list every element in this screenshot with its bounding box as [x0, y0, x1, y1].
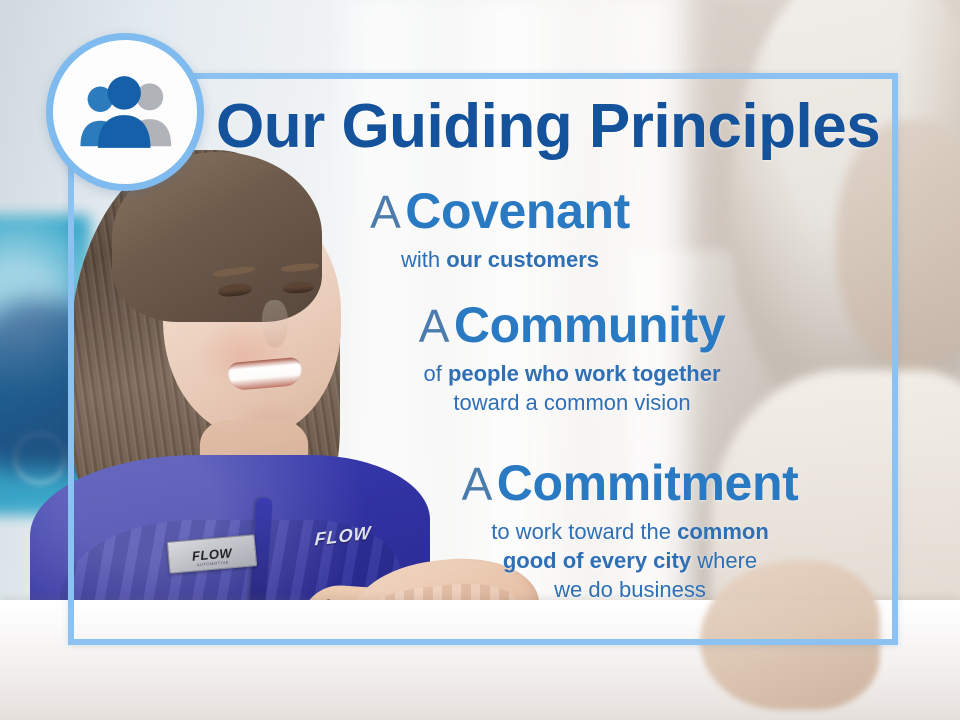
principle-word: Commitment: [497, 455, 799, 511]
principle-subtext: of people who work togethertoward a comm…: [352, 359, 792, 417]
principle-subtext: to work toward the commongood of every c…: [380, 517, 880, 604]
principle-subtext-line: we do business: [380, 575, 880, 604]
principle-subtext-line: toward a common vision: [352, 388, 792, 417]
principle-heading: A Commitment: [380, 458, 880, 509]
principle-article: A: [462, 458, 493, 510]
principle-commitment: A Commitment to work toward the commongo…: [380, 458, 880, 604]
page-title: Our Guiding Principles: [216, 96, 866, 158]
people-group-icon: [73, 73, 177, 151]
principle-heading: A Community: [352, 300, 792, 351]
principle-word: Community: [454, 297, 725, 353]
principle-word: Covenant: [405, 183, 630, 239]
principle-article: A: [370, 186, 401, 238]
associate-nose: [262, 300, 288, 348]
principle-subtext: with our customers: [300, 245, 700, 274]
principle-covenant: A Covenant with our customers: [300, 186, 700, 274]
principle-community: A Community of people who work togethert…: [352, 300, 792, 417]
principle-subtext-line: with our customers: [300, 245, 700, 274]
principle-subtext-line: good of every city where: [380, 546, 880, 575]
principle-heading: A Covenant: [300, 186, 700, 237]
principle-subtext-line: of people who work together: [352, 359, 792, 388]
poster-root: FLOW AUTOMOTIVE FLOW: [0, 0, 960, 720]
principle-subtext-line: to work toward the common: [380, 517, 880, 546]
people-group-badge: [46, 33, 204, 191]
principle-article: A: [419, 300, 450, 352]
